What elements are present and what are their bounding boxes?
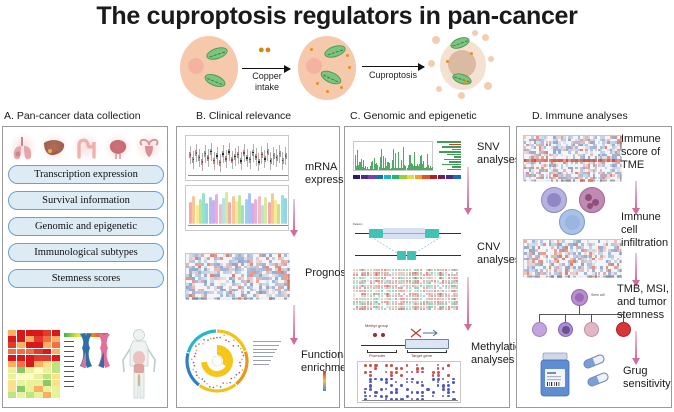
- panel-d: Stem cell: [516, 126, 672, 408]
- capsule-icon: [586, 371, 610, 388]
- flow-arrow-b2: [293, 305, 295, 339]
- panel-title-a: A. Pan-cancer data collection: [4, 110, 141, 122]
- flow-arrow-b1: [293, 199, 295, 231]
- panel-title-d: D. Immune analyses: [532, 110, 628, 122]
- deletion-label: Deletion: [353, 223, 363, 226]
- tme-score-heatmap: [523, 135, 621, 181]
- flow-arrow-d2: [635, 253, 637, 281]
- target-gene-label: Target gene: [411, 353, 432, 358]
- infiltration-heatmap: [523, 239, 621, 277]
- flow-arrow-d1: [635, 181, 637, 209]
- flow-arrow-1: [242, 68, 290, 69]
- flow-arrow-c2: [467, 277, 469, 325]
- data-type-survival-information[interactable]: Survival information: [8, 191, 164, 210]
- step-label-immune-cell-infiltration: Immune cell infiltration: [621, 211, 668, 250]
- panel-title-c: C. Genomic and epigenetic: [350, 110, 477, 122]
- step-label-cnv-analyses: CNV analyses: [477, 241, 520, 267]
- colon-icon: [73, 133, 99, 161]
- circos-enrichment-plot: [183, 327, 287, 401]
- cuproptosis-flow-diagram: ●● Copper intake Cuproptosis: [180, 30, 500, 108]
- flow-arrow-2: [362, 66, 424, 67]
- flow-arrow-d3: [635, 331, 637, 359]
- chromosome-pair-icon: [74, 332, 114, 374]
- drug-bottle-capsules: [535, 349, 631, 399]
- capsule-icon: [582, 353, 606, 370]
- oncoprint-chart: [353, 137, 463, 187]
- methylation-bubble-plot: [357, 361, 461, 403]
- uterus-icon: [136, 133, 162, 161]
- data-type-immunological-subtypes[interactable]: Immunological subtypes: [8, 243, 164, 262]
- step-label-drug-sensitivity: Grug sensitivity: [623, 365, 671, 391]
- methyl-group-label: Methyl group: [365, 323, 388, 328]
- cnv-frequency-heatmap: [353, 269, 459, 311]
- flow-arrow-c1: [467, 167, 469, 209]
- correlation-heatmap: [185, 253, 289, 299]
- data-type-genomic-epigenetic[interactable]: Genomic and epigenetic: [8, 217, 164, 236]
- step-label-snv-analyses: SNV analyses: [477, 141, 520, 167]
- step-label-immune-score-tme: Immune score of TME: [621, 133, 661, 172]
- human-body-icon: [120, 328, 158, 402]
- lung-icon: [10, 133, 36, 161]
- data-type-transcription-expression[interactable]: Transcription expression: [8, 165, 164, 184]
- boxplot-chart: 1234567891011121314151617181920212223242…: [185, 135, 289, 181]
- bladder-icon: [105, 133, 131, 161]
- panel-b: 1234567891011121314151617181920212223242…: [176, 126, 340, 408]
- cnv-deletion-diagram: Deletion: [353, 223, 465, 265]
- copper-ions-icon: ●●: [258, 44, 271, 56]
- data-type-stemness-scores[interactable]: Stemness scores: [8, 269, 164, 288]
- liver-icon: [41, 133, 67, 161]
- immune-cell-icons: [541, 187, 623, 235]
- step-label-tmb-msi-stemness: TMB, MSI, and tumor stemness: [617, 283, 669, 322]
- copper-intake-label: Copper intake: [240, 71, 294, 93]
- organ-icon-row: [7, 131, 165, 161]
- cuproptotic-cell-burst: [428, 30, 500, 108]
- stem-cell-label: Stem cell: [591, 293, 605, 297]
- cuproptosis-label: Cuproptosis: [358, 70, 428, 81]
- methylation-promoter-diagram: Methyl group Promoter Target gene: [359, 323, 469, 361]
- panel-title-b: B. Clinical relevance: [196, 110, 291, 122]
- violin-plot-chart: c1c2c3c4c5c6c7c8c9c10c11c12c13c14c15c16c…: [185, 185, 289, 231]
- page-title: The cuproptosis regulators in pan-cancer: [0, 2, 674, 31]
- promoter-label: Promoter: [369, 353, 385, 358]
- panel-c: Deletion Methyl group Promoter Target ge…: [344, 126, 510, 408]
